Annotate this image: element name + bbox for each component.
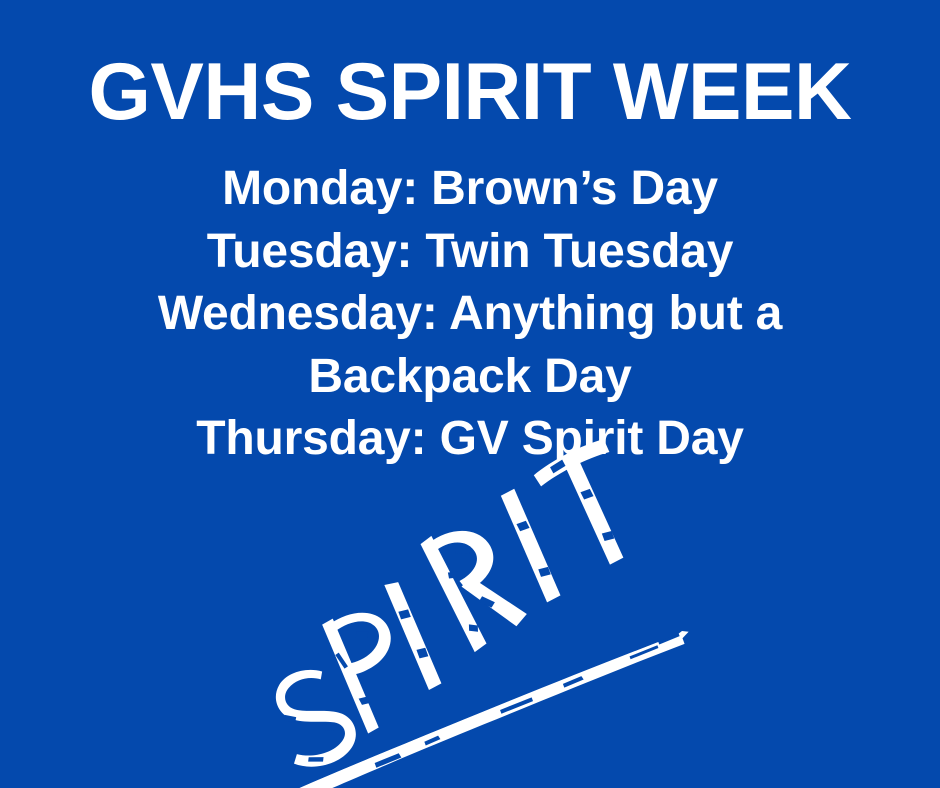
spirit-week-poster: GVHS SPIRIT WEEK Monday: Brown’s Day Tue… (0, 0, 940, 788)
schedule-line-wednesday-cont: Backpack Day (0, 346, 940, 409)
spirit-week-schedule: Monday: Brown’s Day Tuesday: Twin Tuesda… (0, 158, 940, 471)
spirit-letter-i2 (500, 486, 561, 604)
schedule-line-tuesday: Tuesday: Twin Tuesday (0, 221, 940, 284)
spirit-letter-r (419, 514, 533, 657)
spirit-lettering-group (265, 438, 698, 788)
page-title: GVHS SPIRIT WEEK (5, 52, 936, 133)
schedule-line-monday: Monday: Brown’s Day (0, 158, 940, 221)
spirit-brush-logo (255, 505, 710, 788)
schedule-line-thursday: Thursday: GV Spirit Day (0, 408, 940, 471)
spirit-letter-i (384, 578, 442, 692)
schedule-line-wednesday: Wednesday: Anything but a (0, 283, 940, 346)
